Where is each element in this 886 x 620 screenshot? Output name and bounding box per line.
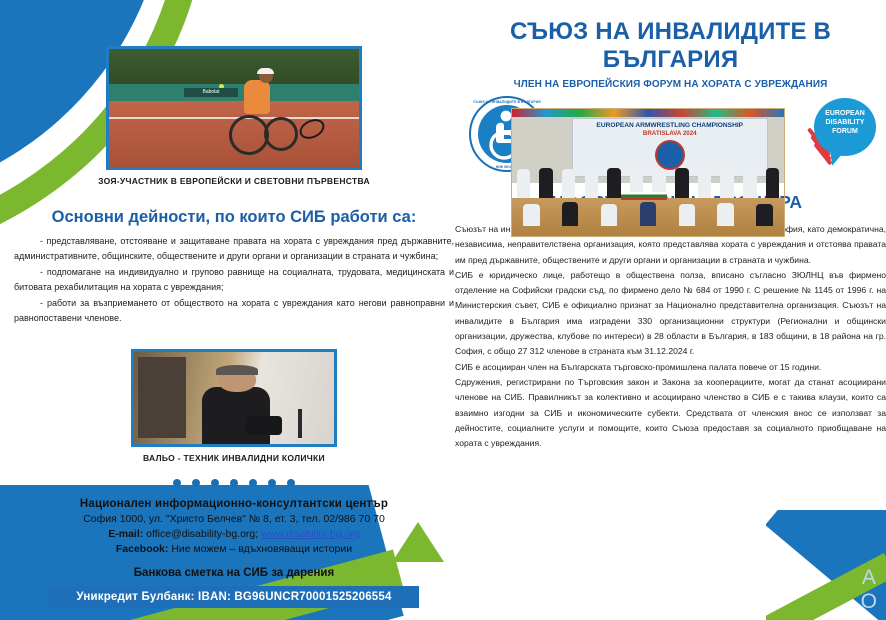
contact-email-label: E-mail: (108, 528, 143, 540)
page-subtitle: ЧЛЕН НА ЕВРОПЕЙСКИЯ ФОРУМ НА ХОРАТА С УВ… (455, 79, 886, 90)
divider-dot (249, 479, 257, 487)
activity-item: - подпомагане на индивидуално и групово … (14, 265, 454, 296)
activity-item: - работи за възприемането от обществото … (14, 296, 454, 327)
bank-account-title: Банкова сметка на СИБ за дарения (14, 567, 454, 579)
wheelchair-tennis-photo: Babolat (106, 46, 362, 170)
divider-dot (173, 479, 181, 487)
contact-facebook-value: Ние можем – вдъхновяващи истории (171, 543, 352, 555)
about-paragraph: СИБ е асоцииран член на Българската търг… (455, 360, 886, 375)
logo-row: СЪЮЗ НА ИНВАЛИДИТЕ В БЪЛГАРИЯ НИЕ МОЖЕМ … (455, 94, 886, 186)
divider-dot (211, 479, 219, 487)
contact-center-title: Национален информационно-консултантски ц… (14, 498, 454, 510)
left-column: Babolat ЗОЯ-УЧАСТНИК В ЕВРОПЕЙСКИ И СВЕТ… (14, 16, 454, 576)
caption-valyo: ВАЛЬО - ТЕХНИК ИНВАЛИДНИ КОЛИЧКИ (14, 453, 454, 463)
dot-divider (14, 479, 454, 487)
sib-logo-ring-text-top: СЪЮЗ НА ИНВАЛИДИТЕ В БЪЛГАРИЯ (469, 100, 545, 104)
edf-logo-line-1: EUROPEAN (814, 110, 876, 119)
wheelchair-wheel-left (229, 115, 269, 155)
contact-email-line: E-mail: office@disability-bg.org; www.di… (14, 528, 454, 540)
contact-facebook-label: Facebook: (116, 543, 169, 555)
edf-logo-line-3: FORUM (814, 128, 876, 137)
corner-vertical-text: А О (861, 566, 878, 614)
contact-block: Национален информационно-консултантски ц… (14, 498, 454, 555)
right-column: СЪЮЗ НА ИНВАЛИДИТЕ В БЪЛГАРИЯ ЧЛЕН НА ЕВ… (455, 18, 886, 451)
edf-logo-line-2: DISABILITY (814, 119, 876, 128)
court-sponsor-banner: Babolat (184, 88, 238, 97)
team-row-front (512, 198, 784, 226)
divider-dot (192, 479, 200, 487)
contact-email-value: office@disability-bg.org; (146, 528, 258, 540)
iban-bar: Уникредит Булбанк: IBAN: BG96UNCR7000152… (49, 586, 419, 608)
armwrestling-scene: EUROPEAN ARMWRESTLING CHAMPIONSHIP BRATI… (512, 109, 784, 236)
workshop-scene (134, 352, 334, 444)
corner-vertical-text-line2: О (861, 590, 878, 614)
tennis-scene: Babolat (109, 49, 359, 167)
about-paragraph: СИБ е юридическо лице, работещо в общест… (455, 268, 886, 360)
activity-item: - представляване, отстояване и защитаван… (14, 234, 454, 265)
caption-tennis: ЗОЯ-УЧАСТНИК В ЕВРОПЕЙСКИ И СВЕТОВНИ ПЪР… (14, 176, 454, 186)
player-torso (244, 80, 270, 114)
tool-wall (138, 357, 186, 438)
corner-blue-shape (766, 510, 886, 620)
edf-logo-text: EUROPEAN DISABILITY FORUM (814, 110, 876, 136)
contact-address: София 1000, ул. "Христо Белчев" № 8, ет.… (14, 513, 454, 525)
about-organization-text: Съюзът на инвалидите в България /СИБ/ е … (455, 222, 886, 451)
corner-vertical-text-line1: А (861, 566, 878, 590)
heading-main-activities: Основни дейности, по които СИБ работи са… (14, 208, 454, 227)
divider-dot (230, 479, 238, 487)
court-line (109, 117, 359, 119)
technician-hair (216, 365, 258, 375)
banner-line-2: BRATISLAVA 2024 (573, 130, 767, 137)
corner-green-band (766, 553, 886, 620)
about-paragraph: Сдружения, регистрирани по Търговския за… (455, 375, 886, 451)
divider-dot (287, 479, 295, 487)
tennis-hedge (109, 49, 359, 89)
flags-garland (512, 109, 784, 117)
contact-website-link[interactable]: www.disability-bg.org (261, 528, 360, 540)
activities-list: - представляване, отстояване и защитаван… (14, 234, 454, 327)
corner-decoration-bottom-right: А О (766, 510, 886, 620)
contact-facebook-line: Facebook: Ние можем – вдъхновяващи истор… (14, 543, 454, 555)
bulgarian-flag (621, 192, 667, 201)
banner-line-1: EUROPEAN ARMWRESTLING CHAMPIONSHIP (573, 122, 767, 129)
wheelchair-part (246, 416, 282, 434)
european-disability-forum-logo: EUROPEAN DISABILITY FORUM (800, 94, 882, 178)
armwrestling-team-photo: EUROPEAN ARMWRESTLING CHAMPIONSHIP BRATI… (511, 108, 785, 237)
workshop-rod (298, 409, 302, 438)
brochure-page: А О Babolat ЗОЯ-УЧАСТНИК В ЕВРОПЕЙСКИ И (0, 0, 886, 620)
divider-dot (268, 479, 276, 487)
player-cap (257, 68, 274, 74)
wheelchair-technician-photo (131, 349, 337, 447)
page-title: СЪЮЗ НА ИНВАЛИДИТЕ В БЪЛГАРИЯ (455, 18, 886, 74)
